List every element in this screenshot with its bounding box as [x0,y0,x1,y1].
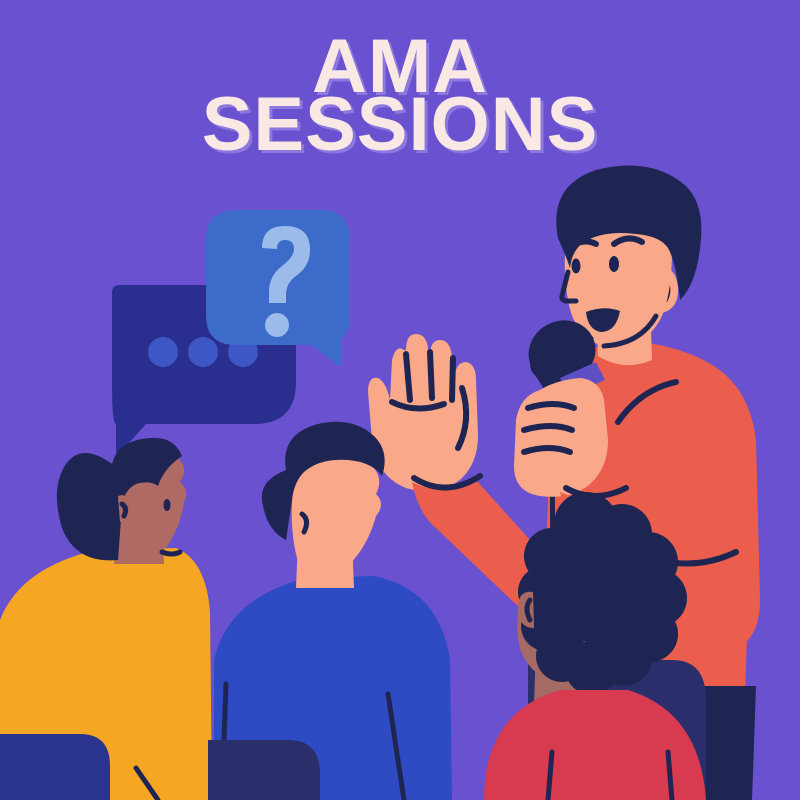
question-bubble [206,210,350,366]
dots-bubble-dot-1 [148,337,178,367]
title-line-2: SESSIONS [202,82,599,167]
illustration-canvas: AMA AMA SESSIONS SESSIONS [0,0,800,800]
audience-left-eye [164,499,171,511]
audience-right-ear-detail [527,600,530,620]
speaker-eye-left [572,259,581,274]
dots-bubble-dot-2 [188,337,218,367]
speaker-eye-right [609,256,619,272]
ama-sessions-poster: AMA AMA SESSIONS SESSIONS [0,0,800,800]
audience-left-mouth [162,552,180,554]
audience-middle-seam-1 [224,684,226,740]
raised-hand-finger-2 [430,352,432,398]
question-mark-dot [265,313,289,337]
raised-hand-finger-3 [452,358,453,400]
audience-middle-chair [208,740,320,800]
audience-left-chair [0,734,110,800]
raised-hand-finger-1 [406,354,410,400]
